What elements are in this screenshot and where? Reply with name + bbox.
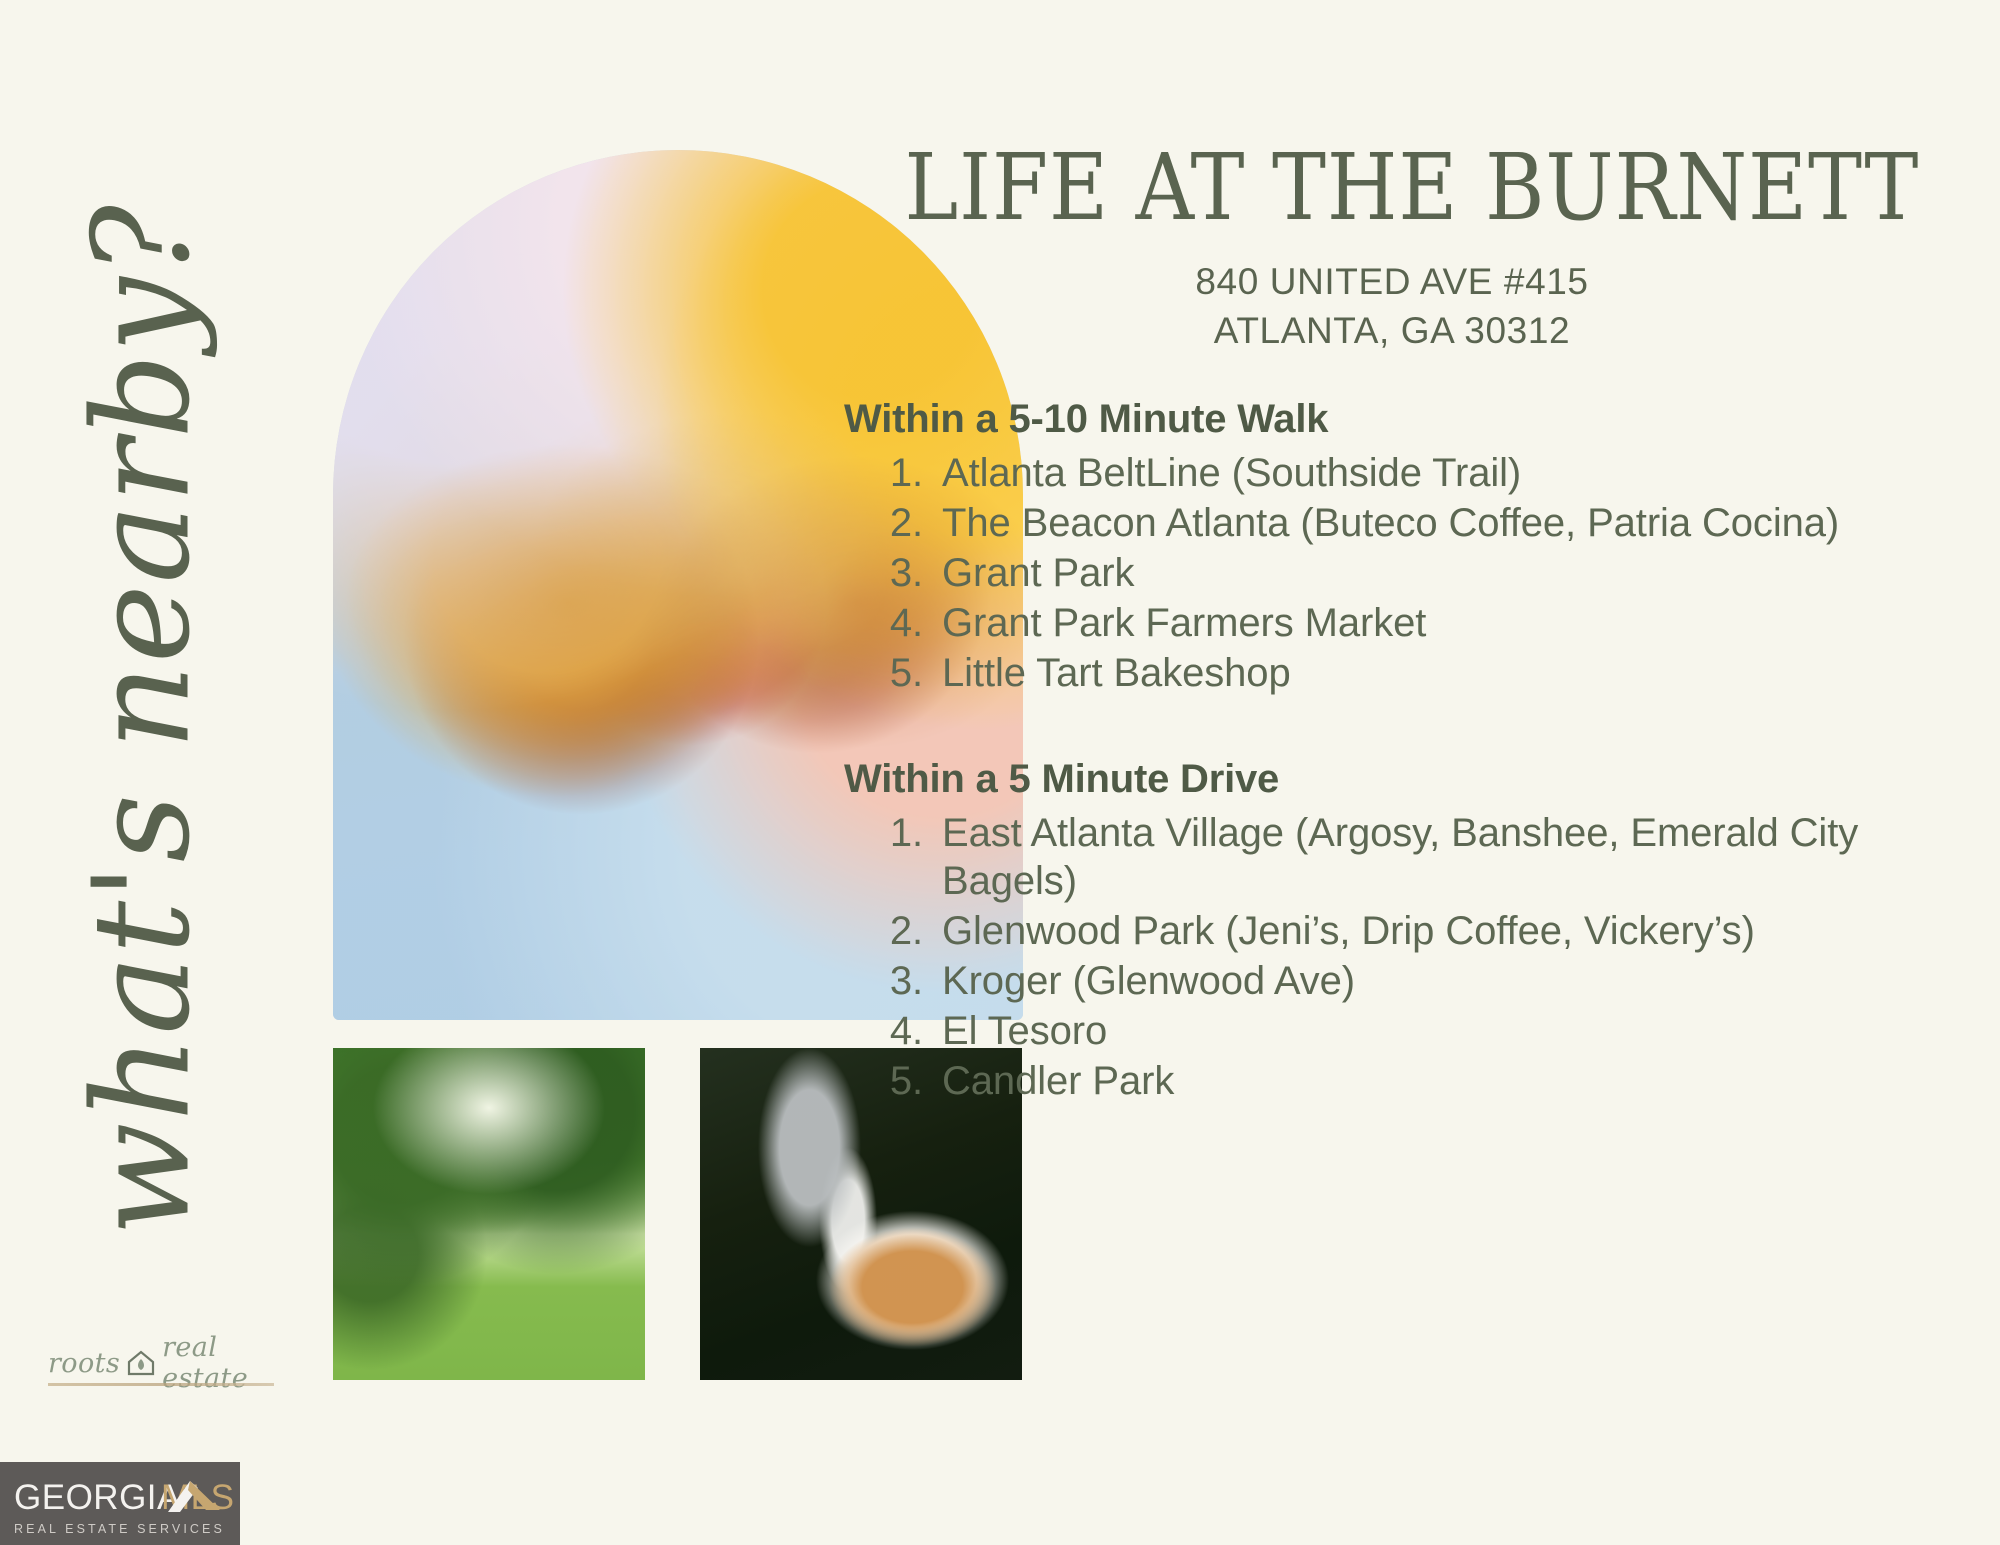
section-heading-drive: Within a 5 Minute Drive bbox=[838, 755, 1946, 803]
address-line-1: 840 UNITED AVE #415 bbox=[838, 258, 1946, 307]
places-list-drive: East Atlanta Village (Argosy, Banshee, E… bbox=[838, 809, 1946, 1105]
list-item: El Tesoro bbox=[934, 1007, 1946, 1055]
list-item: Glenwood Park (Jeni’s, Drip Coffee, Vick… bbox=[934, 907, 1946, 955]
list-item: The Beacon Atlanta (Buteco Coffee, Patri… bbox=[934, 499, 1946, 547]
mls-wordmark: GEORGIA MLS bbox=[14, 1476, 226, 1520]
list-item: Little Tart Bakeshop bbox=[934, 649, 1946, 697]
places-list-walk: Atlanta BeltLine (Southside Trail) The B… bbox=[838, 449, 1946, 697]
address-block: 840 UNITED AVE #415 ATLANTA, GA 30312 bbox=[838, 258, 1946, 356]
list-item: Kroger (Glenwood Ave) bbox=[934, 957, 1946, 1005]
georgia-mls-badge: GEORGIA MLS REAL ESTATE SERVICES bbox=[0, 1462, 240, 1545]
address-line-2: ATLANTA, GA 30312 bbox=[838, 307, 1946, 356]
section-walk: Within a 5-10 Minute Walk Atlanta BeltLi… bbox=[838, 395, 1946, 697]
list-item: Grant Park Farmers Market bbox=[934, 599, 1946, 647]
roots-logo-underline bbox=[48, 1383, 274, 1386]
page-title: LIFE AT THE BURNETT bbox=[904, 140, 1879, 236]
section-drive: Within a 5 Minute Drive East Atlanta Vil… bbox=[838, 755, 1946, 1105]
list-item: East Atlanta Village (Argosy, Banshee, E… bbox=[934, 809, 1946, 905]
section-heading-walk: Within a 5-10 Minute Walk bbox=[838, 395, 1946, 443]
photo-park-trees bbox=[333, 1048, 645, 1380]
vertical-headline: what's nearby? bbox=[77, 204, 210, 1236]
house-leaf-icon bbox=[126, 1349, 156, 1377]
list-item: Candler Park bbox=[934, 1057, 1946, 1105]
flyer-slide: what's nearby? LIFE AT THE BURNETT 840 U… bbox=[0, 0, 2000, 1545]
mls-subtitle: REAL ESTATE SERVICES bbox=[14, 1522, 225, 1536]
roots-real-estate-logo: roots real estate bbox=[48, 1337, 274, 1389]
list-item: Atlanta BeltLine (Southside Trail) bbox=[934, 449, 1946, 497]
roof-icon bbox=[128, 1476, 220, 1512]
content-column: LIFE AT THE BURNETT 840 UNITED AVE #415 … bbox=[838, 140, 1946, 1107]
list-item: Grant Park bbox=[934, 549, 1946, 597]
roots-logo-word-left: roots bbox=[48, 1348, 120, 1379]
vertical-headline-container: what's nearby? bbox=[28, 110, 258, 1330]
